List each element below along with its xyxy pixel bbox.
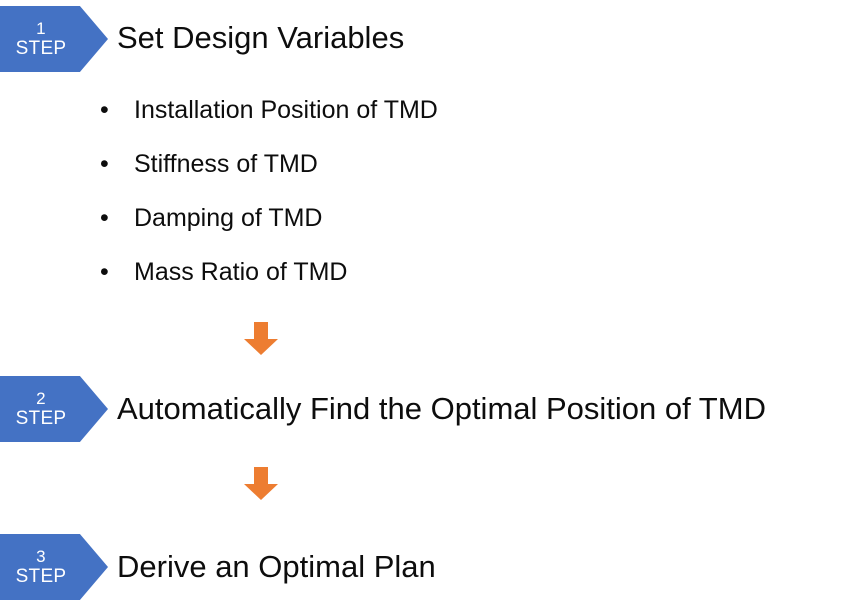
list-item-label: Stiffness of TMD xyxy=(134,149,318,179)
step-number-2: 2 xyxy=(36,389,46,408)
step-word-2: STEP xyxy=(16,408,67,430)
down-arrow-icon xyxy=(243,322,279,356)
step-title-2: Automatically Find the Optimal Position … xyxy=(117,391,766,427)
down-arrow-icon xyxy=(243,467,279,501)
list-item-label: Damping of TMD xyxy=(134,203,323,233)
bullet-icon: • xyxy=(100,203,134,233)
step-badge-2: 2 STEP xyxy=(0,376,108,442)
list-item-label: Installation Position of TMD xyxy=(134,95,438,125)
step-word-1: STEP xyxy=(16,38,67,60)
step-badge-1: 1 STEP xyxy=(0,6,108,72)
step-number-1: 1 xyxy=(36,19,46,38)
list-item: • Installation Position of TMD xyxy=(100,95,700,149)
step-title-1: Set Design Variables xyxy=(117,20,404,56)
design-variables-list: • Installation Position of TMD • Stiffne… xyxy=(100,95,700,311)
list-item: • Damping of TMD xyxy=(100,203,700,257)
bullet-icon: • xyxy=(100,95,134,125)
bullet-icon: • xyxy=(100,149,134,179)
list-item: • Mass Ratio of TMD xyxy=(100,257,700,311)
step-word-3: STEP xyxy=(16,566,67,588)
list-item: • Stiffness of TMD xyxy=(100,149,700,203)
list-item-label: Mass Ratio of TMD xyxy=(134,257,347,287)
step-number-3: 3 xyxy=(36,547,46,566)
step-badge-3: 3 STEP xyxy=(0,534,108,600)
bullet-icon: • xyxy=(100,257,134,287)
step-title-3: Derive an Optimal Plan xyxy=(117,549,436,585)
process-flow-diagram: 1 STEP Set Design Variables • Installati… xyxy=(0,0,856,608)
